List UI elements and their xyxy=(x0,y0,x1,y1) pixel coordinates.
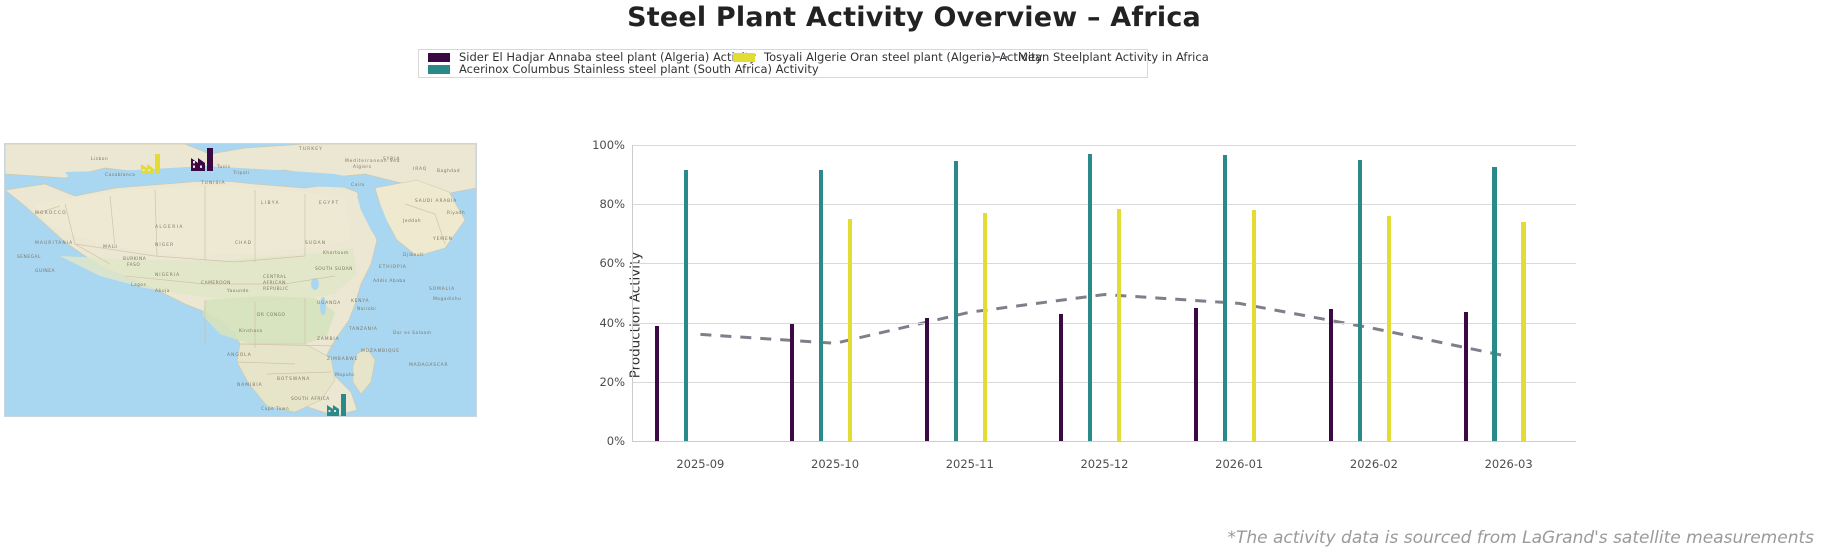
svg-text:TURKEY: TURKEY xyxy=(298,146,323,152)
factory-icon xyxy=(139,152,165,178)
svg-text:Maputo: Maputo xyxy=(335,372,354,378)
svg-text:GUINEA: GUINEA xyxy=(35,268,55,274)
bar-group: 2026-01 xyxy=(1172,145,1307,441)
svg-text:UGANDA: UGANDA xyxy=(317,300,341,306)
bar[interactable] xyxy=(925,318,929,441)
bar[interactable] xyxy=(819,170,823,441)
bar-group: 2026-03 xyxy=(1441,145,1576,441)
africa-map[interactable]: Lisbon Casablanca MOROCCO ALGERIA TUNISI… xyxy=(4,143,477,417)
svg-text:Yaounde: Yaounde xyxy=(226,288,249,294)
factory-icon xyxy=(325,394,351,417)
svg-text:NIGER: NIGER xyxy=(155,242,174,248)
grid-line xyxy=(633,441,1576,442)
x-axis-tick: 2025-11 xyxy=(946,457,994,471)
svg-text:Cairo: Cairo xyxy=(351,182,365,188)
y-axis-tick: 60% xyxy=(599,256,625,270)
svg-text:Lagos: Lagos xyxy=(131,282,147,288)
activity-bar-chart: Production Activity 0%20%40%60%80%100%20… xyxy=(566,130,1576,500)
bar[interactable] xyxy=(684,170,688,441)
svg-text:Algiers: Algiers xyxy=(353,164,372,170)
svg-text:YEMEN: YEMEN xyxy=(432,236,453,242)
y-axis-tick: 100% xyxy=(592,138,625,152)
y-axis-tick: 80% xyxy=(599,197,625,211)
bar[interactable] xyxy=(1223,155,1227,441)
x-axis-tick: 2025-10 xyxy=(811,457,859,471)
x-axis-tick: 2025-09 xyxy=(676,457,724,471)
svg-text:SOUTH SUDAN: SOUTH SUDAN xyxy=(315,266,353,272)
legend-item-mean-activity[interactable]: Mean Steelplant Activity in Africa xyxy=(985,50,1209,64)
svg-text:MAURITANIA: MAURITANIA xyxy=(35,240,73,246)
bar[interactable] xyxy=(655,326,659,441)
svg-text:REPUBLIC: REPUBLIC xyxy=(263,286,289,292)
svg-text:SOMALIA: SOMALIA xyxy=(429,286,455,292)
legend-label-mean-activity: Mean Steelplant Activity in Africa xyxy=(1018,50,1209,64)
bar[interactable] xyxy=(1387,216,1391,441)
bar[interactable] xyxy=(1358,160,1362,441)
svg-text:MADAGASCAR: MADAGASCAR xyxy=(409,362,448,368)
bar[interactable] xyxy=(1521,222,1525,441)
svg-text:SUDAN: SUDAN xyxy=(305,240,326,246)
svg-text:AFRICAN: AFRICAN xyxy=(263,280,286,286)
bar[interactable] xyxy=(790,324,794,441)
svg-text:FASO: FASO xyxy=(127,262,140,268)
bar[interactable] xyxy=(1059,314,1063,441)
legend-label-acerinox-columbus: Acerinox Columbus Stainless steel plant … xyxy=(459,62,819,76)
svg-text:EGYPT: EGYPT xyxy=(319,200,339,206)
svg-text:NAMIBIA: NAMIBIA xyxy=(237,382,263,388)
map-marker-acerinox-columbus[interactable] xyxy=(325,394,351,417)
svg-text:TUNISIA: TUNISIA xyxy=(200,180,226,186)
svg-text:ZAMBIA: ZAMBIA xyxy=(317,336,340,342)
x-axis-tick: 2026-03 xyxy=(1485,457,1533,471)
bar[interactable] xyxy=(848,219,852,441)
svg-text:Dar es Salaam: Dar es Salaam xyxy=(393,330,432,336)
svg-text:Djibouti: Djibouti xyxy=(403,252,424,258)
svg-text:Abuja: Abuja xyxy=(155,288,170,294)
footnote: *The activity data is sourced from LaGra… xyxy=(1227,528,1814,548)
bar-group: 2025-09 xyxy=(633,145,768,441)
bar[interactable] xyxy=(954,161,958,441)
svg-text:Cape Town: Cape Town xyxy=(261,406,289,412)
svg-text:Riyadh: Riyadh xyxy=(447,210,465,216)
map-marker-tosyali-algerie-oran[interactable] xyxy=(139,152,165,182)
svg-text:MOZAMBIQUE: MOZAMBIQUE xyxy=(361,348,400,354)
bar[interactable] xyxy=(1252,210,1256,441)
svg-text:Khartoum: Khartoum xyxy=(323,250,349,256)
svg-text:SAUDI ARABIA: SAUDI ARABIA xyxy=(415,198,457,204)
y-axis-tick: 0% xyxy=(607,434,625,448)
x-axis-tick: 2026-02 xyxy=(1350,457,1398,471)
bar-group: 2025-10 xyxy=(768,145,903,441)
svg-text:LIBYA: LIBYA xyxy=(261,200,280,206)
svg-text:Mediterranean Sea: Mediterranean Sea xyxy=(345,158,400,164)
svg-text:ALGERIA: ALGERIA xyxy=(155,224,184,230)
bar[interactable] xyxy=(1117,209,1121,441)
svg-text:Baghdad: Baghdad xyxy=(437,168,460,174)
svg-text:SOUTH AFRICA: SOUTH AFRICA xyxy=(291,396,330,402)
bar[interactable] xyxy=(1464,312,1468,441)
svg-text:Mogadishu: Mogadishu xyxy=(433,296,461,302)
svg-text:ETHIOPIA: ETHIOPIA xyxy=(379,264,407,270)
bar[interactable] xyxy=(1492,167,1496,441)
svg-text:Jeddah: Jeddah xyxy=(402,218,421,224)
svg-text:CENTRAL: CENTRAL xyxy=(263,274,287,280)
svg-text:Nairobi: Nairobi xyxy=(357,306,376,312)
svg-text:MOROCCO: MOROCCO xyxy=(35,210,67,216)
map-place-labels: Lisbon Casablanca MOROCCO ALGERIA TUNISI… xyxy=(5,144,476,416)
svg-text:NIGERIA: NIGERIA xyxy=(155,272,180,278)
svg-text:KENYA: KENYA xyxy=(351,298,369,304)
bar-group: 2025-11 xyxy=(902,145,1037,441)
svg-text:CAMEROON: CAMEROON xyxy=(201,280,231,286)
bar[interactable] xyxy=(1329,309,1333,441)
svg-text:DR CONGO: DR CONGO xyxy=(257,312,286,318)
bar[interactable] xyxy=(1088,154,1092,441)
bar[interactable] xyxy=(1194,308,1198,441)
svg-text:ANGOLA: ANGOLA xyxy=(227,352,252,358)
svg-text:SENEGAL: SENEGAL xyxy=(17,254,41,260)
legend-item-acerinox-columbus[interactable]: Acerinox Columbus Stainless steel plant … xyxy=(428,62,819,76)
svg-text:Kinshasa: Kinshasa xyxy=(239,328,263,334)
legend-dashed-line-icon xyxy=(985,56,1009,58)
bar[interactable] xyxy=(983,213,987,441)
svg-text:BOTSWANA: BOTSWANA xyxy=(277,376,310,382)
svg-text:CHAD: CHAD xyxy=(235,240,252,246)
y-axis-tick: 40% xyxy=(599,316,625,330)
x-axis-tick: 2026-01 xyxy=(1215,457,1263,471)
y-axis-tick: 20% xyxy=(599,375,625,389)
svg-text:Casablanca: Casablanca xyxy=(105,172,135,178)
svg-text:IRAQ: IRAQ xyxy=(413,166,427,172)
page-title: Steel Plant Activity Overview – Africa xyxy=(0,2,1828,33)
legend-swatch-sider-el-hadjar xyxy=(428,53,450,62)
legend-swatch-acerinox-columbus xyxy=(428,65,450,74)
svg-text:Tripoli: Tripoli xyxy=(232,170,249,176)
bar-group: 2025-12 xyxy=(1037,145,1172,441)
svg-text:Tunis: Tunis xyxy=(216,164,231,170)
bar-group: 2026-02 xyxy=(1307,145,1442,441)
legend-swatch-tosyali-algerie-oran xyxy=(733,53,755,62)
svg-text:Lisbon: Lisbon xyxy=(91,156,108,162)
svg-text:BURKINA: BURKINA xyxy=(123,256,146,262)
svg-text:TANZANIA: TANZANIA xyxy=(348,326,378,332)
x-axis-tick: 2025-12 xyxy=(1080,457,1128,471)
svg-text:MALI: MALI xyxy=(103,244,118,250)
plot-area: 0%20%40%60%80%100%2025-092025-102025-112… xyxy=(632,145,1576,442)
factory-icon xyxy=(189,147,217,175)
svg-text:ZIMBABWE: ZIMBABWE xyxy=(327,356,358,362)
svg-text:Addis Ababa: Addis Ababa xyxy=(373,278,406,284)
map-marker-sider-el-hadjar-annaba[interactable] xyxy=(189,147,217,179)
